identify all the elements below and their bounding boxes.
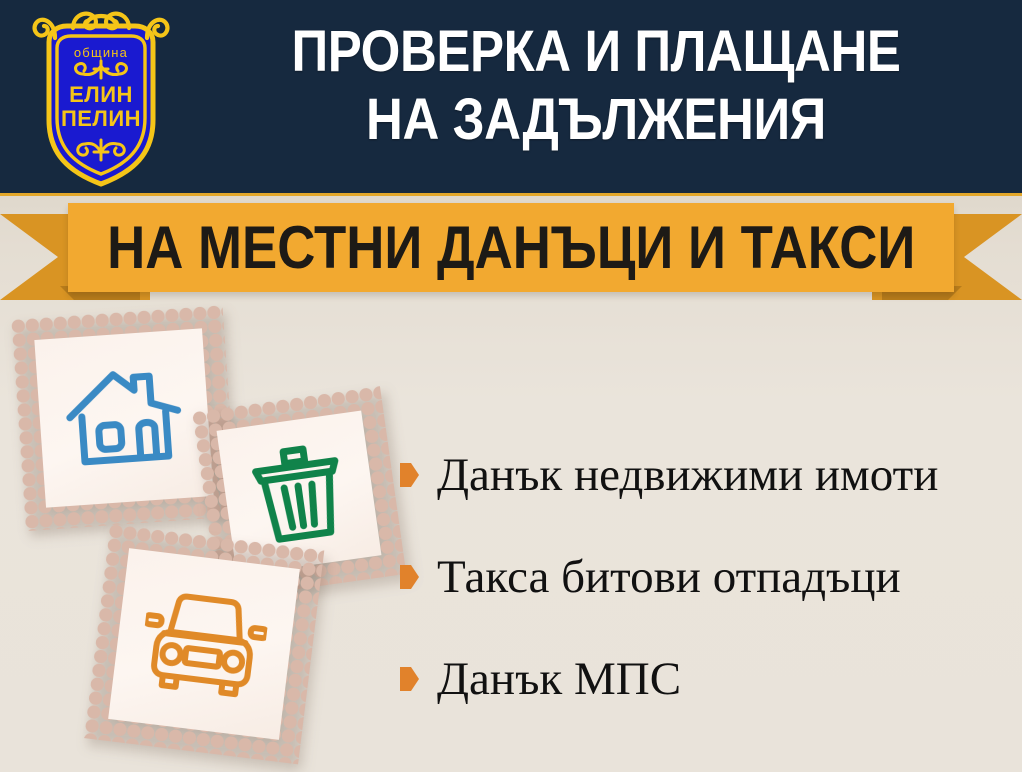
ribbon-banner: НА МЕСТНИ ДАНЪЦИ И ТАКСИ	[68, 203, 954, 292]
house-icon	[60, 360, 187, 476]
car-front-icon	[137, 585, 271, 703]
trash-bin-icon	[242, 434, 356, 553]
stamp-face	[34, 328, 213, 507]
arrow-bullet-icon	[400, 463, 419, 487]
subtitle-ribbon: НА МЕСТНИ ДАНЪЦИ И ТАКСИ	[0, 200, 1022, 304]
poster-title: ПРОВЕРКА И ПЛАЩАНЕ НА ЗАДЪЛЖЕНИЯ	[190, 18, 1002, 154]
stamp-face	[108, 548, 300, 740]
svg-text:община: община	[74, 45, 128, 60]
ribbon-label: НА МЕСТНИ ДАНЪЦИ И ТАКСИ	[107, 218, 915, 278]
header-gold-divider	[0, 193, 1022, 196]
title-line-2: НА ЗАДЪЛЖЕНИЯ	[239, 86, 954, 154]
list-item[interactable]: Данък недвижими имоти	[400, 424, 1010, 526]
stamp-car	[84, 524, 325, 765]
list-item-label: Такса битови отпадъци	[437, 552, 901, 602]
list-item[interactable]: Такса битови отпадъци	[400, 526, 1010, 628]
poster-canvas: община ЕЛИН ПЕЛИН П	[0, 0, 1022, 772]
list-item-label: Данък недвижими имоти	[437, 450, 938, 500]
list-item[interactable]: Данък МПС	[400, 628, 1010, 730]
svg-text:ПЕЛИН: ПЕЛИН	[61, 106, 141, 131]
coat-of-arms-icon: община ЕЛИН ПЕЛИН	[27, 8, 175, 188]
arrow-bullet-icon	[400, 667, 419, 691]
tax-type-list: Данък недвижими имоти Такса битови отпад…	[400, 424, 1010, 730]
svg-text:ЕЛИН: ЕЛИН	[69, 82, 133, 107]
municipality-logo: община ЕЛИН ПЕЛИН	[27, 8, 175, 188]
arrow-bullet-icon	[400, 565, 419, 589]
title-line-1: ПРОВЕРКА И ПЛАЩАНЕ	[239, 18, 954, 86]
list-item-label: Данък МПС	[437, 654, 681, 704]
